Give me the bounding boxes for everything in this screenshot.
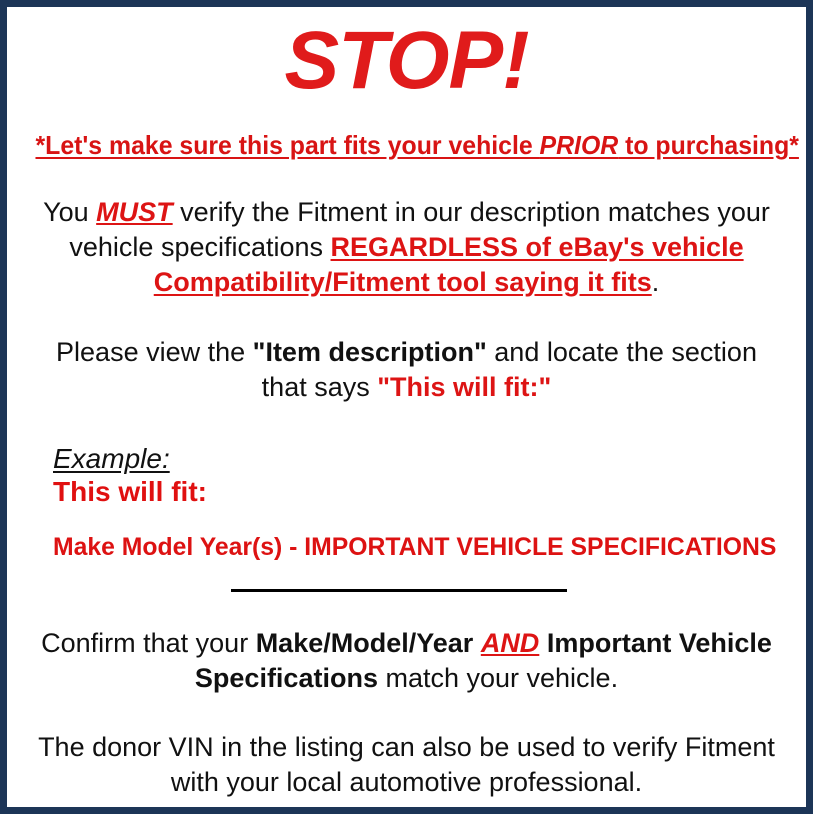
confirm-space-2	[539, 628, 547, 658]
example-label: Example:	[53, 444, 795, 473]
example-fit-heading: This will fit:	[53, 476, 795, 507]
subtitle-text-before: *Let's make sure this part fits your veh…	[35, 130, 539, 160]
verify-emphasis-must: MUST	[96, 197, 173, 227]
locate-paragraph: Please view the "Item description" and l…	[18, 335, 795, 405]
locate-bold-item-description: "Item description"	[253, 337, 487, 367]
example-block: Example: This will fit: Make Model Year(…	[18, 444, 795, 561]
verify-text-3: .	[652, 267, 660, 297]
confirm-space-1	[473, 628, 481, 658]
notice-inner-panel: STOP! *Let's make sure this part fits yo…	[7, 20, 806, 814]
confirm-emphasis-and: AND	[481, 628, 540, 658]
fitment-notice-card: STOP! *Let's make sure this part fits yo…	[0, 0, 813, 814]
locate-red-this-will-fit: "This will fit:"	[377, 372, 551, 402]
fitment-subtitle: *Let's make sure this part fits your veh…	[35, 131, 777, 161]
confirm-text-1: Confirm that your	[41, 628, 256, 658]
vin-paragraph: The donor VIN in the listing can also be…	[18, 730, 795, 800]
subtitle-text-after: to purchasing*	[618, 130, 799, 160]
subtitle-emphasis-prior: PRIOR	[540, 130, 619, 160]
section-divider-wrapper	[18, 588, 795, 592]
section-divider	[231, 589, 567, 592]
confirm-text-2: match your vehicle.	[378, 663, 618, 693]
stop-headline: STOP!	[18, 20, 795, 102]
locate-text-1: Please view the	[56, 337, 253, 367]
verify-paragraph: You MUST verify the Fitment in our descr…	[18, 195, 795, 300]
example-spec-line: Make Model Year(s) - IMPORTANT VEHICLE S…	[53, 534, 788, 562]
confirm-bold-make-model-year: Make/Model/Year	[256, 628, 474, 658]
confirm-paragraph: Confirm that your Make/Model/Year AND Im…	[18, 626, 795, 696]
verify-text-1: You	[43, 197, 96, 227]
